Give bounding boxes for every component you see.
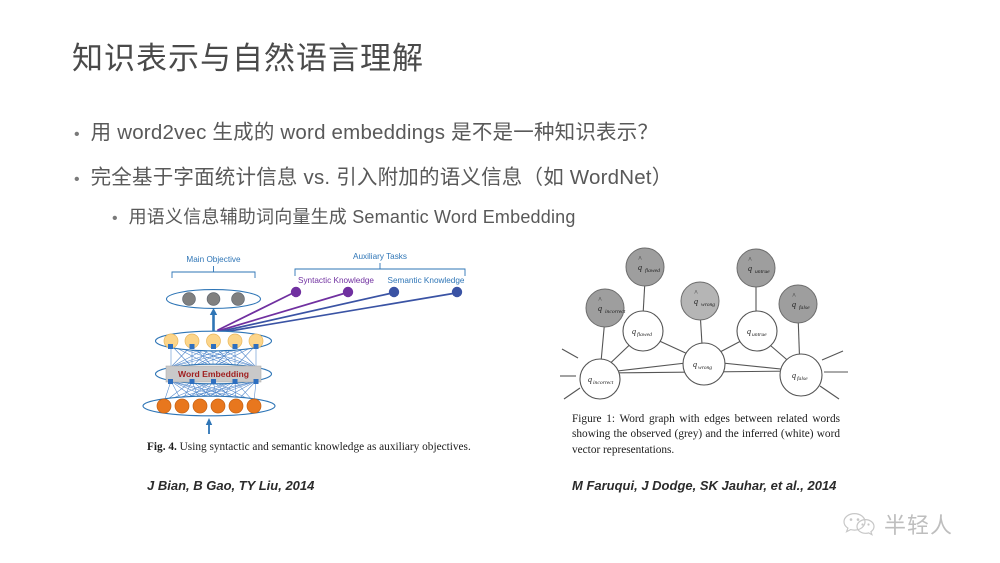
svg-text:false: false <box>799 304 810 311</box>
figure-left-caption-prefix: Fig. 4. <box>147 441 177 453</box>
input-layer <box>143 396 275 416</box>
semantic-knowledge-label: Semantic Knowledge <box>388 276 465 285</box>
svg-text:q: q <box>748 264 752 273</box>
word-embedding-label: Word Embedding <box>178 369 249 379</box>
figure-left-caption: Fig. 4. Using syntactic and semantic kno… <box>147 440 547 455</box>
bullet-item-3: • 用语义信息辅助词向量生成 Semantic Word Embedding <box>112 203 576 229</box>
observed-nodes <box>586 248 817 327</box>
watermark-text: 半轻人 <box>884 508 953 540</box>
svg-text:wrong: wrong <box>701 302 715 308</box>
main-objective-label: Main Objective <box>186 255 241 264</box>
figure-right-caption: Figure 1: Word graph with edges between … <box>572 412 840 458</box>
output-layer <box>167 290 261 309</box>
bullet-text: 完全基于字面统计信息 vs. 引入附加的语义信息（如 WordNet） <box>91 160 673 190</box>
wechat-icon <box>842 511 876 537</box>
svg-text:false: false <box>797 375 808 382</box>
svg-text:wrong: wrong <box>698 365 712 371</box>
bullet-item-2: • 完全基于字面统计信息 vs. 引入附加的语义信息（如 WordNet） <box>74 160 672 190</box>
svg-text:q: q <box>638 263 642 272</box>
bullet-marker: • <box>74 127 80 143</box>
citation-right: M Faruqui, J Dodge, SK Jauhar, et al., 2… <box>572 478 836 493</box>
svg-text:q: q <box>747 327 751 336</box>
page-title: 知识表示与自然语言理解 <box>72 33 424 78</box>
svg-text:incorrect: incorrect <box>593 380 614 386</box>
svg-text:q: q <box>792 300 796 309</box>
auxiliary-tasks-bracket <box>295 263 465 276</box>
svg-text:untrue: untrue <box>752 332 767 338</box>
auxiliary-tasks-label: Auxiliary Tasks <box>353 252 407 261</box>
figure-left-neural-network: Main Objective Auxiliary Tasks Syntactic… <box>140 248 540 498</box>
svg-text:flawed: flawed <box>645 267 660 274</box>
svg-text:q: q <box>598 304 602 313</box>
hidden-layer <box>156 331 272 351</box>
main-objective-bracket <box>172 266 255 278</box>
svg-text:q: q <box>694 297 698 306</box>
citation-left: J Bian, B Gao, TY Liu, 2014 <box>147 478 314 493</box>
svg-text:flawed: flawed <box>637 331 652 338</box>
figure-left-caption-text: Using syntactic and semantic knowledge a… <box>180 441 471 453</box>
syntactic-knowledge-label: Syntactic Knowledge <box>298 276 374 285</box>
bullet-item-1: • 用 word2vec 生成的 word embeddings 是不是一种知识… <box>74 115 658 145</box>
input-arrow <box>206 418 212 434</box>
svg-text:incorrect: incorrect <box>605 309 626 315</box>
bullet-text: 用 word2vec 生成的 word embeddings 是不是一种知识表示… <box>91 115 659 145</box>
watermark: 半轻人 <box>842 508 953 540</box>
svg-text:q: q <box>632 327 636 336</box>
main-objective-arrow <box>210 308 217 332</box>
svg-text:q: q <box>792 371 796 380</box>
svg-text:q: q <box>588 375 592 384</box>
bullet-marker: • <box>112 211 118 227</box>
slide-canvas: 知识表示与自然语言理解 • 用 word2vec 生成的 word embedd… <box>0 0 1000 563</box>
bullet-marker: • <box>74 172 80 188</box>
svg-text:untrue: untrue <box>755 269 770 275</box>
svg-text:q: q <box>693 360 697 369</box>
bullet-text: 用语义信息辅助词向量生成 Semantic Word Embedding <box>129 203 576 229</box>
